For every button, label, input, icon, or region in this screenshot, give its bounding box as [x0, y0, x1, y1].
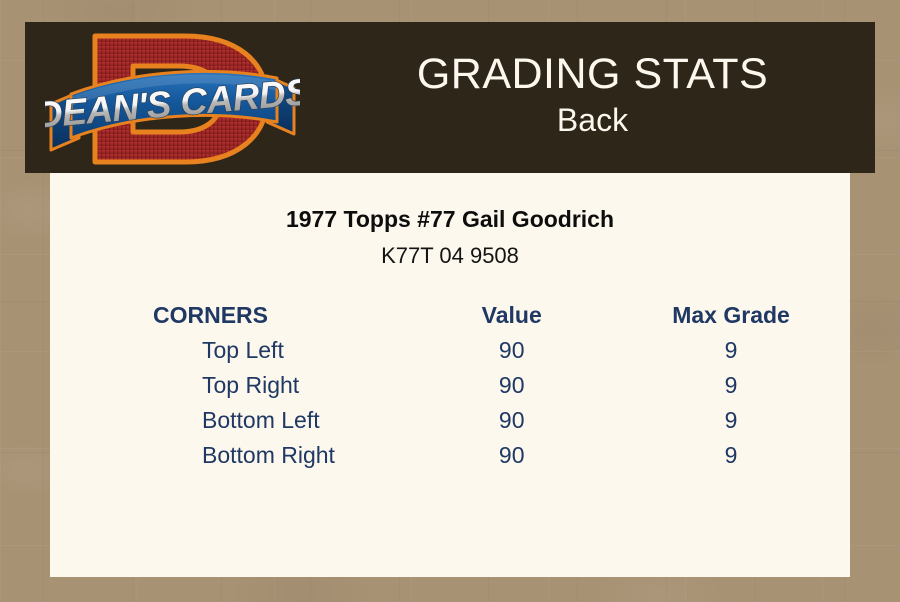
header-title-block: GRADING STATS Back [310, 22, 875, 173]
page-title: GRADING STATS [417, 51, 768, 97]
row-max-grade: 9 [612, 403, 850, 438]
column-header-max-grade: Max Grade [612, 298, 850, 333]
row-value: 90 [411, 333, 612, 368]
row-max-grade: 9 [612, 438, 850, 473]
row-value: 90 [411, 403, 612, 438]
page-subtitle: Back [557, 100, 628, 140]
column-header-value: Value [411, 298, 612, 333]
row-label: Bottom Right [50, 438, 411, 473]
row-label: Top Left [50, 333, 411, 368]
row-label: Top Right [50, 368, 411, 403]
row-value: 90 [411, 368, 612, 403]
grading-stats-table: CORNERS Value Max Grade Top Left 90 9 To… [50, 298, 850, 473]
card-code: K77T 04 9508 [50, 243, 850, 269]
deans-cards-logo[interactable]: DEAN'S CARDS [45, 26, 300, 172]
table-row: Bottom Left 90 9 [50, 403, 850, 438]
row-value: 90 [411, 438, 612, 473]
column-header-corners: CORNERS [50, 298, 411, 333]
table-header-row: CORNERS Value Max Grade [50, 298, 850, 333]
header-bar: DEAN'S CARDS GRADING STATS Back [25, 22, 875, 173]
table-row: Top Left 90 9 [50, 333, 850, 368]
card-title: 1977 Topps #77 Gail Goodrich [50, 206, 850, 234]
content-panel: 1977 Topps #77 Gail Goodrich K77T 04 950… [50, 173, 850, 577]
row-label: Bottom Left [50, 403, 411, 438]
row-max-grade: 9 [612, 333, 850, 368]
table-row: Top Right 90 9 [50, 368, 850, 403]
row-max-grade: 9 [612, 368, 850, 403]
table-row: Bottom Right 90 9 [50, 438, 850, 473]
